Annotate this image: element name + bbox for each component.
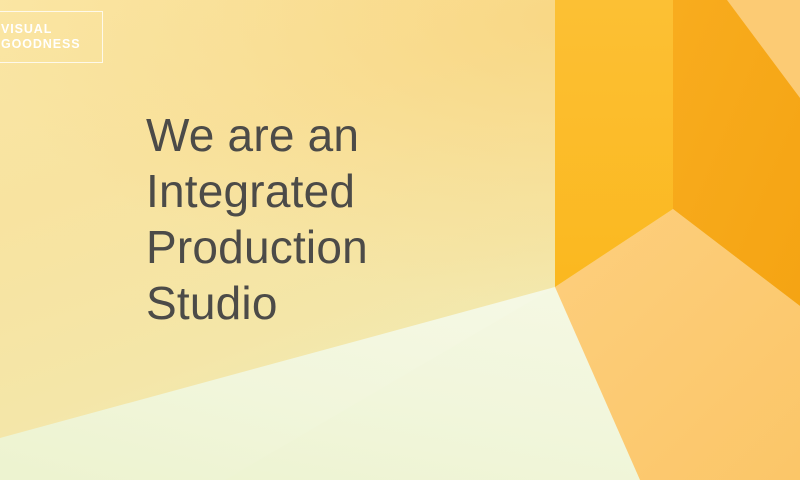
- slide-canvas: VISUAL GOODNESS We are an Integrated Pro…: [0, 0, 800, 480]
- headline: We are an Integrated Production Studio: [146, 107, 546, 331]
- visual-goodness-logo[interactable]: VISUAL GOODNESS: [0, 11, 103, 63]
- headline-line-4: Studio: [146, 275, 546, 331]
- headline-line-2: Integrated: [146, 163, 546, 219]
- headline-line-1: We are an: [146, 107, 546, 163]
- logo-line-1: VISUAL: [0, 22, 52, 38]
- logo-line-2: GOODNESS: [0, 37, 80, 53]
- headline-line-3: Production: [146, 219, 546, 275]
